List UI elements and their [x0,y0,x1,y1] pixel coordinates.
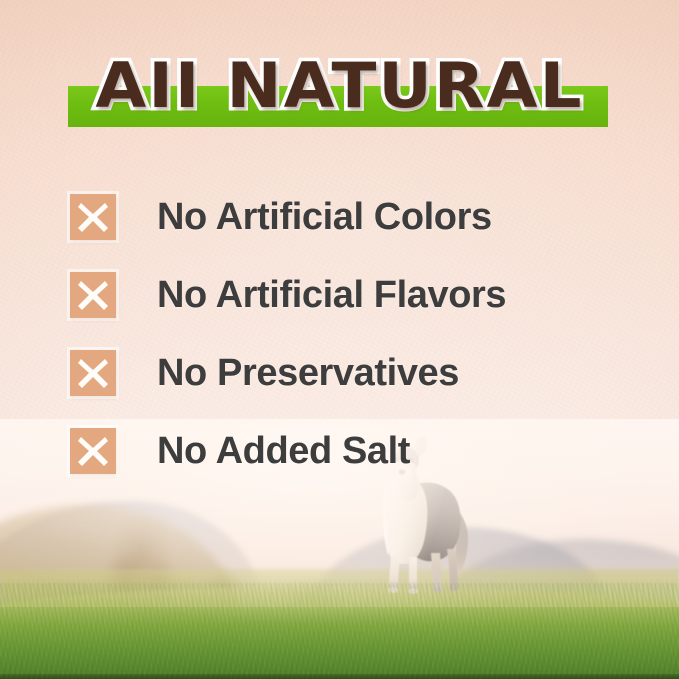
page-title: AII NATURAL [0,55,679,117]
benefit-label: No Added Salt [157,432,410,470]
benefit-label: No Artificial Flavors [157,276,506,314]
x-mark-icon [70,272,116,318]
list-item: No Added Salt [70,412,630,490]
all-natural-infographic: AII NATURAL No Artificial Colors No Arti… [0,0,679,679]
x-mark-icon [70,428,116,474]
x-mark-icon [70,350,116,396]
list-item: No Artificial Flavors [70,256,630,334]
benefit-label: No Artificial Colors [157,198,492,236]
photo-bottom-edge [0,674,679,679]
benefit-label: No Preservatives [157,354,459,392]
x-mark-icon [70,194,116,240]
benefits-list: No Artificial Colors No Artificial Flavo… [70,178,630,490]
list-item: No Artificial Colors [70,178,630,256]
list-item: No Preservatives [70,334,630,412]
grass-texture-foreground [0,583,679,679]
